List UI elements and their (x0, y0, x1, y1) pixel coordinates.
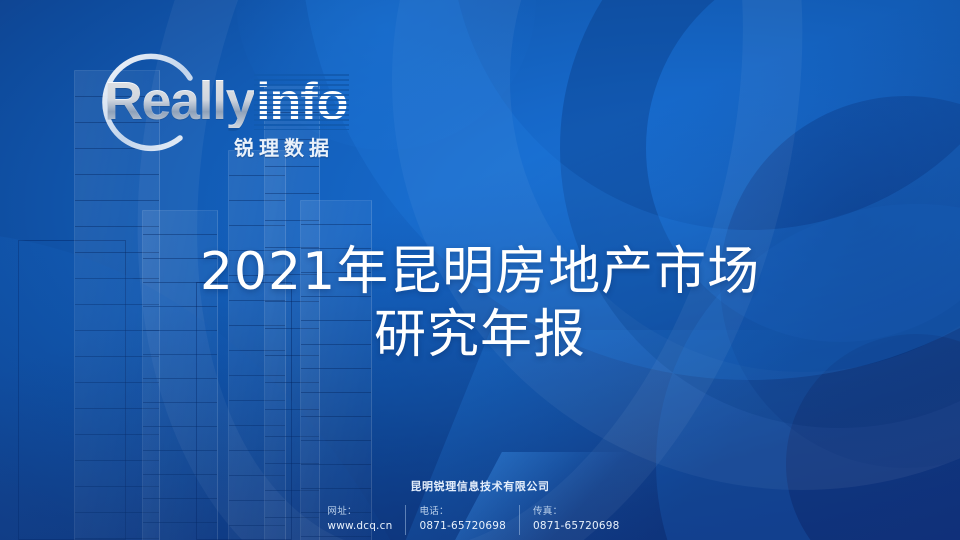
contact-fax: 传真： 0871-65720698 (519, 505, 633, 535)
contact-phone: 电话： 0871-65720698 (405, 505, 519, 535)
contact-phone-label: 电话： (419, 505, 506, 519)
logo-info-text: info (256, 76, 347, 128)
contact-fax-value: 0871-65720698 (533, 519, 620, 535)
contact-website: 网址： www.dcq.cn (327, 505, 405, 535)
brand-logo: Really info 锐理数据 (48, 52, 348, 164)
logo-chinese-text: 锐理数据 (234, 132, 334, 161)
title-line-1: 2021年昆明房地产市场 (0, 241, 960, 304)
footer-contact-list: 网址： www.dcq.cn 电话： 0871-65720698 传真： 087… (327, 505, 632, 535)
contact-phone-value: 0871-65720698 (419, 519, 506, 535)
cover-slide: Really info 锐理数据 2021年昆明房地产市场 研究年报 昆明锐理信… (0, 0, 960, 540)
footer: 昆明锐理信息技术有限公司 网址： www.dcq.cn 电话： 0871-657… (0, 478, 960, 535)
contact-website-value[interactable]: www.dcq.cn (327, 519, 392, 535)
title-line-2: 研究年报 (0, 304, 960, 367)
logo-really-text: Really (104, 74, 254, 128)
contact-website-label: 网址： (327, 505, 392, 519)
contact-fax-label: 传真： (533, 505, 620, 519)
footer-company-name: 昆明锐理信息技术有限公司 (0, 478, 960, 494)
page-title: 2021年昆明房地产市场 研究年报 (0, 241, 960, 368)
logo-wordmark: Really info (104, 74, 347, 128)
